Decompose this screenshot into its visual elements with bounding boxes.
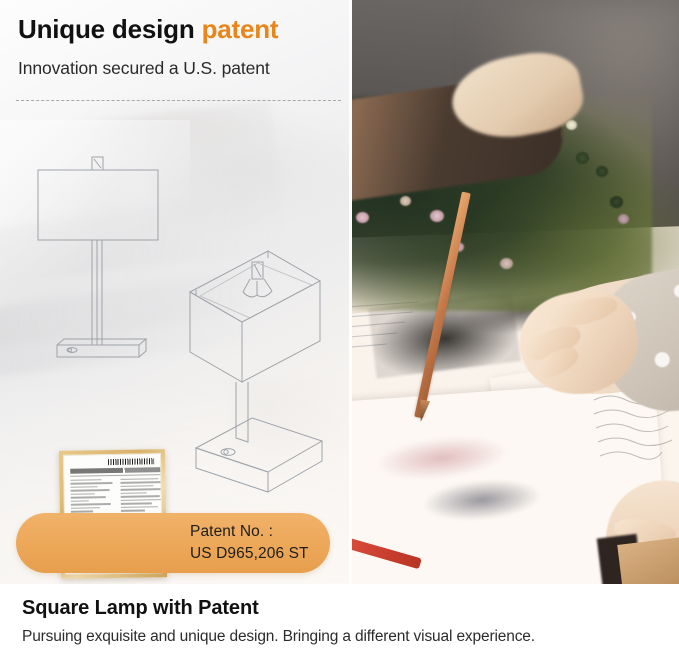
caption-subtitle: Pursuing exquisite and unique design. Br… [22, 628, 535, 646]
lamp-line-drawings [0, 0, 349, 584]
dashed-divider [16, 100, 341, 101]
barcode-icon [108, 458, 154, 465]
caption-block: Square Lamp with Patent Pursuing exquisi… [0, 584, 679, 662]
product-feature-image: Unique design patent Innovation secured … [0, 0, 679, 662]
patent-number-text: Patent No. : US D965,206 ST [190, 521, 340, 565]
title-accent: patent [202, 14, 279, 44]
page-subtitle: Innovation secured a U.S. patent [18, 58, 270, 79]
patent-number-value: US D965,206 ST [190, 543, 340, 565]
page-title: Unique design patent [18, 14, 278, 45]
patent-number-label: Patent No. : [190, 521, 340, 543]
title-main: Unique design [18, 14, 195, 44]
left-panel: Unique design patent Innovation secured … [0, 0, 349, 584]
caption-title: Square Lamp with Patent [22, 597, 259, 620]
photo-panel [352, 0, 679, 584]
